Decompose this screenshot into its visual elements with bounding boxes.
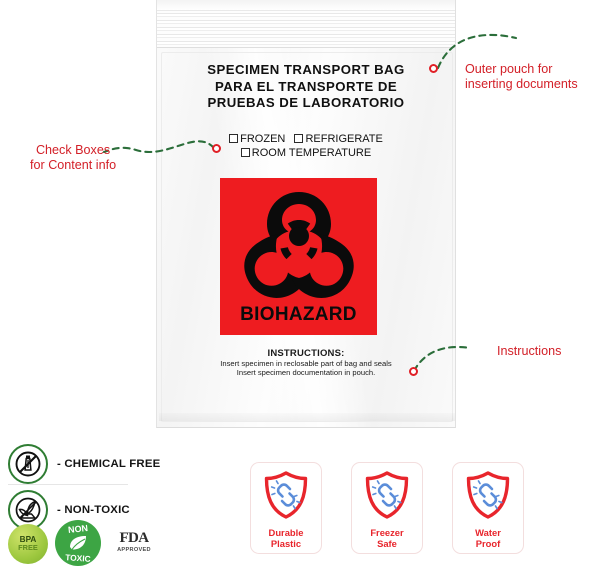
infographic-canvas: SPECIMEN TRANSPORT BAG PARA EL TRANSPORT… xyxy=(0,0,600,565)
eco-claim-chemical-free: - CHEMICAL FREE xyxy=(8,444,160,484)
fda-approved-line-1: FDA xyxy=(110,530,158,547)
shield-durable-plastic xyxy=(262,470,310,525)
callout-outer-pouch-line-2: inserting documents xyxy=(465,77,578,92)
non-toxic-badge: NON TOXIC xyxy=(55,520,101,566)
eco-claim-non-toxic-label: - NON-TOXIC xyxy=(57,504,130,516)
feature-freezer-safe-line-2: Safe xyxy=(370,538,403,549)
no-chemical-icon xyxy=(8,444,48,484)
callout-marker-outer-pouch xyxy=(429,64,438,73)
feature-card-freezer-safe-label: Freezer Safe xyxy=(370,527,403,549)
callout-marker-check-boxes xyxy=(212,144,221,153)
eco-claim-divider xyxy=(8,484,128,485)
callout-check-boxes-line-1: Check Boxes xyxy=(30,143,116,158)
fda-approved-line-2: APPROVED xyxy=(110,547,158,553)
callout-label-check-boxes: Check Boxes for Content info xyxy=(30,143,116,173)
feature-freezer-safe-line-1: Freezer xyxy=(370,527,403,538)
feature-card-water-proof[interactable]: Water Proof xyxy=(452,462,524,554)
feature-card-water-proof-label: Water Proof xyxy=(475,527,501,549)
bpa-free-line-2: FREE xyxy=(18,544,38,552)
leader-line-instructions xyxy=(414,347,470,371)
feature-card-durable-plastic-label: Durable Plastic xyxy=(269,527,304,549)
feature-durable-plastic-line-2: Plastic xyxy=(269,538,304,549)
callout-outer-pouch-line-1: Outer pouch for xyxy=(465,62,578,77)
bpa-free-badge: BPA FREE xyxy=(8,524,48,564)
callout-marker-instructions xyxy=(409,367,418,376)
callout-label-instructions: Instructions xyxy=(497,344,561,359)
feature-durable-plastic-line-1: Durable xyxy=(269,527,304,538)
feature-card-durable-plastic[interactable]: Durable Plastic xyxy=(250,462,322,554)
fda-approved-badge: FDA APPROVED xyxy=(110,530,158,553)
shield-freezer-safe xyxy=(363,470,411,525)
callout-label-outer-pouch: Outer pouch for inserting documents xyxy=(465,62,578,92)
shield-water-proof xyxy=(464,470,512,525)
non-toxic-leaf-icon xyxy=(67,533,89,553)
feature-card-freezer-safe[interactable]: Freezer Safe xyxy=(351,462,423,554)
eco-claim-chemical-free-label: - CHEMICAL FREE xyxy=(57,458,160,470)
callout-instructions-line-1: Instructions xyxy=(497,344,561,359)
feature-water-proof-line-2: Proof xyxy=(475,538,501,549)
callout-check-boxes-line-2: for Content info xyxy=(30,158,116,173)
leader-line-check-boxes xyxy=(104,141,214,152)
feature-water-proof-line-1: Water xyxy=(475,527,501,538)
